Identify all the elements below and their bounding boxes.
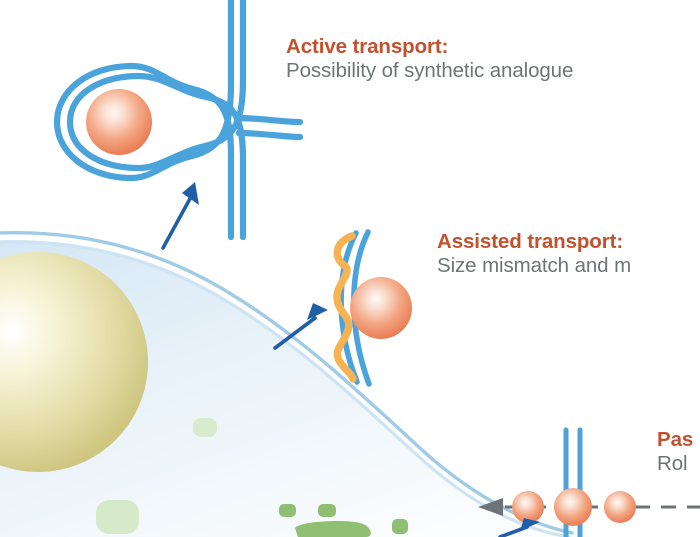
assisted-transport-heading: Assisted transport:: [437, 230, 631, 254]
pointer-arrow-assisted: [275, 303, 328, 348]
arrow-shaft: [163, 195, 192, 248]
particle-center: [554, 488, 592, 526]
cargo-particle-active: [86, 89, 152, 155]
active-transport-heading: Active transport:: [286, 35, 573, 59]
active-transport-group: [57, 0, 300, 237]
organelle-5: [392, 519, 408, 534]
label-active-transport: Active transport: Possibility of synthet…: [286, 35, 573, 82]
cargo-particle-assisted: [350, 277, 412, 339]
label-assisted-transport: Assisted transport: Size mismatch and m: [437, 230, 631, 277]
arrow-head: [307, 303, 328, 320]
organelle-1: [193, 418, 217, 437]
duct-line-lower: [239, 133, 300, 137]
cell-body: [0, 233, 572, 537]
organelle-3: [279, 504, 296, 517]
passive-transport-body: Rol: [657, 452, 693, 476]
particle-left: [512, 491, 544, 523]
assisted-transport-body: Size mismatch and m: [437, 254, 631, 278]
assisted-transport-group: [337, 232, 412, 384]
particle-right: [604, 491, 636, 523]
organelle-4: [318, 504, 336, 517]
pointer-arrow-active: [163, 182, 199, 248]
passive-transport-heading: Pas: [657, 428, 693, 452]
figure-canvas: Active transport: Possibility of synthet…: [0, 0, 700, 537]
duct-line-upper: [237, 118, 300, 122]
organelle-2: [96, 500, 139, 534]
label-passive-transport: Pas Rol: [657, 428, 693, 475]
arrow-shaft: [275, 318, 315, 348]
active-transport-body: Possibility of synthetic analogue: [286, 59, 573, 83]
arrow-head: [182, 182, 199, 205]
